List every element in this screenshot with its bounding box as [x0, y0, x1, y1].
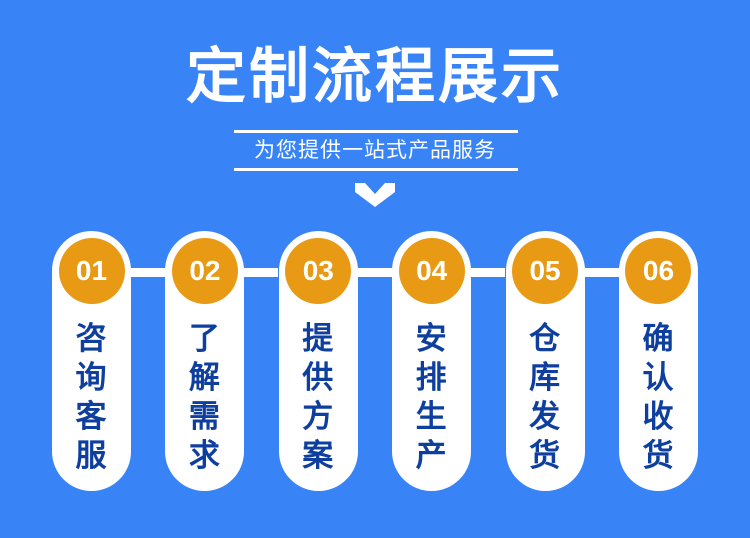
poster-header: 定制流程展示 为您提供一站式产品服务 — [0, 0, 750, 215]
step-connector-line — [358, 268, 392, 277]
process-step-05[interactable]: 05 仓 库 发 货 — [506, 231, 585, 491]
step-connector-line — [131, 268, 165, 277]
divider-top — [234, 130, 518, 133]
step-label: 了 解 需 求 — [165, 319, 244, 487]
chevron-down-icon — [355, 183, 395, 207]
step-label-char: 确 — [642, 319, 674, 358]
step-label-char: 询 — [76, 358, 108, 397]
step-label: 咨 询 客 服 — [52, 319, 131, 487]
step-label-char: 仓 — [529, 319, 561, 358]
step-label-char: 案 — [302, 436, 334, 475]
step-label-char: 产 — [416, 436, 448, 475]
step-connector-line — [585, 268, 619, 277]
step-label-char: 提 — [302, 319, 334, 358]
process-step-04[interactable]: 04 安 排 生 产 — [392, 231, 471, 491]
step-label-char: 认 — [642, 358, 674, 397]
step-label-char: 解 — [189, 358, 221, 397]
step-label-char: 发 — [529, 397, 561, 436]
step-number-badge: 02 — [172, 238, 238, 304]
step-label-char: 求 — [189, 436, 221, 475]
step-label-char: 收 — [642, 397, 674, 436]
step-label: 确 认 收 货 — [619, 319, 698, 487]
step-label-char: 咨 — [76, 319, 108, 358]
process-steps-list: 01 咨 询 客 服 02 了 解 需 求 03 提 供 — [52, 231, 698, 491]
process-step-03[interactable]: 03 提 供 方 案 — [279, 231, 358, 491]
step-connector-line — [471, 268, 505, 277]
step-connector-line — [244, 268, 278, 277]
step-label-char: 需 — [189, 397, 221, 436]
step-number-badge: 05 — [512, 238, 578, 304]
step-label-char: 货 — [642, 436, 674, 475]
step-label-char: 供 — [302, 358, 334, 397]
step-number-badge: 04 — [399, 238, 465, 304]
custom-process-poster: 定制流程展示 为您提供一站式产品服务 01 咨 询 客 服 02 了 — [0, 0, 750, 538]
step-label: 提 供 方 案 — [279, 319, 358, 487]
divider-bottom — [234, 168, 518, 171]
step-label-char: 方 — [302, 397, 334, 436]
process-step-02[interactable]: 02 了 解 需 求 — [165, 231, 244, 491]
page-title: 定制流程展示 — [0, 44, 750, 110]
step-number-badge: 06 — [625, 238, 691, 304]
step-label-char: 库 — [529, 358, 561, 397]
process-step-06[interactable]: 06 确 认 收 货 — [619, 231, 698, 491]
step-label: 仓 库 发 货 — [506, 319, 585, 487]
step-number-badge: 03 — [285, 238, 351, 304]
step-label-char: 生 — [416, 397, 448, 436]
step-label-char: 客 — [76, 397, 108, 436]
step-label-char: 排 — [416, 358, 448, 397]
process-step-01[interactable]: 01 咨 询 客 服 — [52, 231, 131, 491]
step-label-char: 服 — [76, 436, 108, 475]
step-number-badge: 01 — [59, 238, 125, 304]
step-label-char: 货 — [529, 436, 561, 475]
step-label: 安 排 生 产 — [392, 319, 471, 487]
step-label-char: 安 — [416, 319, 448, 358]
step-label-char: 了 — [189, 319, 221, 358]
page-subtitle: 为您提供一站式产品服务 — [0, 139, 750, 163]
